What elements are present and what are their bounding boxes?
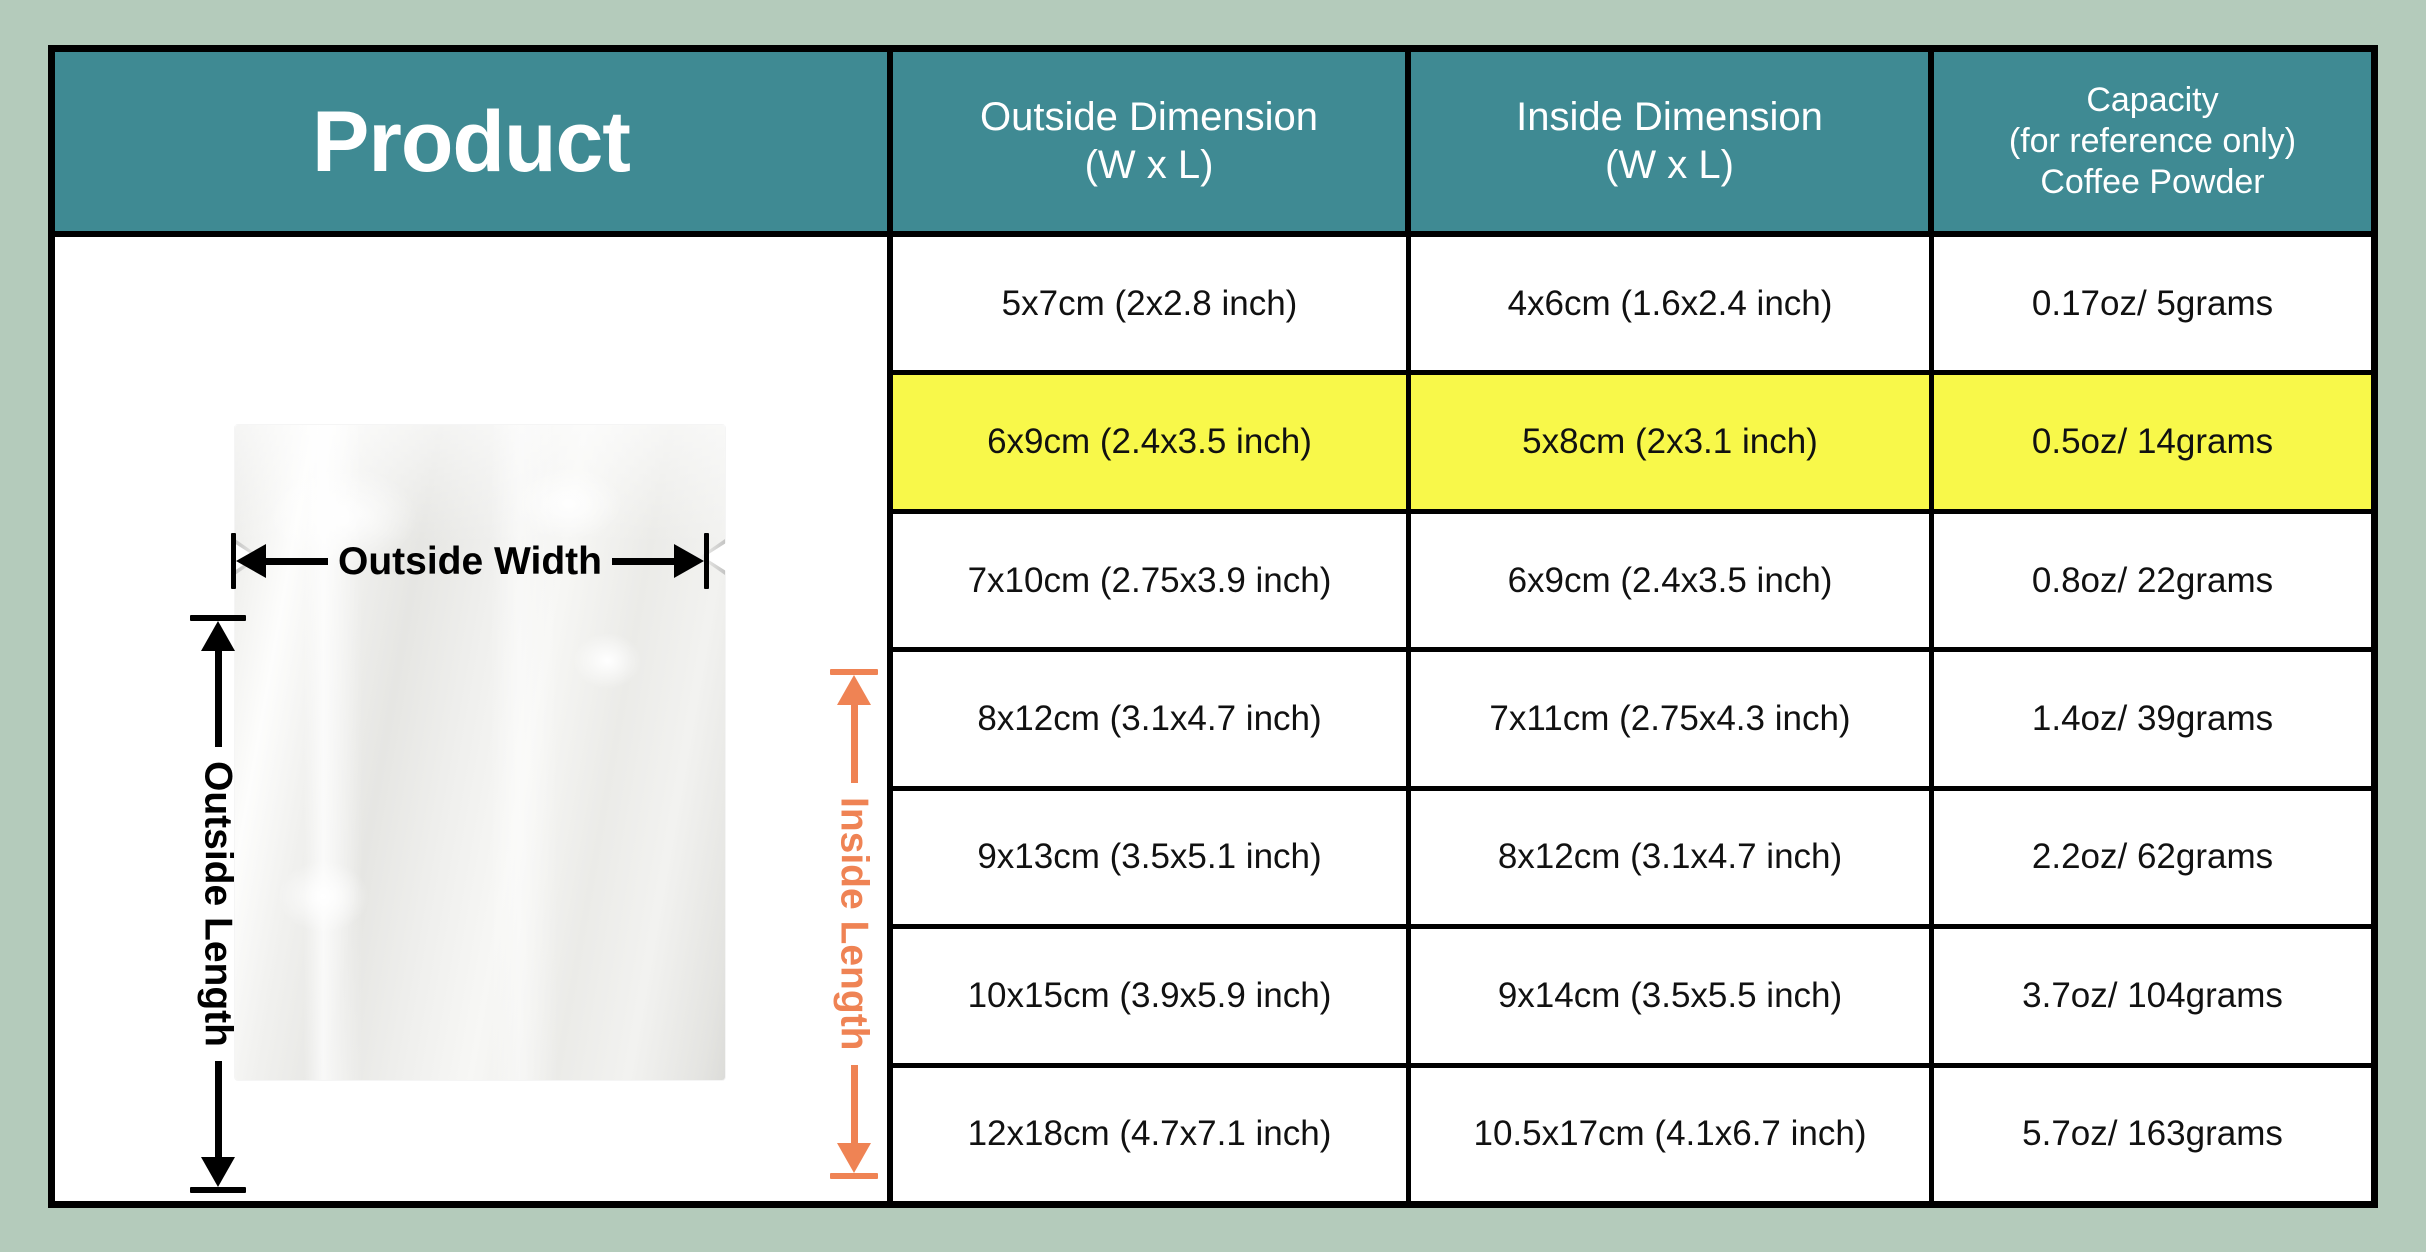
size-rows-container: 5x7cm (2x2.8 inch) 4x6cm (1.6x2.4 inch) … <box>893 237 2371 1201</box>
outside-width-arrowhead-right-icon <box>674 544 704 578</box>
inside-length-shaft-bottom <box>851 1065 858 1143</box>
column-header-capacity-sub: (for reference only) <box>2009 121 2296 162</box>
cell-capacity: 2.2oz/ 62grams <box>1934 791 2371 924</box>
inside-length-arrowhead-up-icon <box>837 675 871 705</box>
table-row: 10x15cm (3.9x5.9 inch) 9x14cm (3.5x5.5 i… <box>893 929 2371 1067</box>
table-row: 5x7cm (2x2.8 inch) 4x6cm (1.6x2.4 inch) … <box>893 237 2371 375</box>
cell-outside-dimension: 12x18cm (4.7x7.1 inch) <box>893 1068 1411 1201</box>
outside-width-label: Outside Width <box>338 542 602 581</box>
table-body: Outside Width Inside Width <box>55 237 2371 1201</box>
table-row: 7x10cm (2.75x3.9 inch) 6x9cm (2.4x3.5 in… <box>893 514 2371 652</box>
column-header-product-label: Product <box>312 99 630 185</box>
outside-length-arrowhead-up-icon <box>201 621 235 651</box>
outside-length-cap-bottom-icon <box>190 1187 246 1193</box>
outside-length-dimension: Outside Length <box>190 615 246 1201</box>
inside-length-cap-bottom-icon <box>830 1173 878 1179</box>
pouch-top-sheen <box>235 425 725 545</box>
outside-width-dimension: Outside Width <box>231 533 731 589</box>
column-header-inside-dimension-sub: (W x L) <box>1516 142 1823 189</box>
table-header-row: Product Outside Dimension (W x L) Inside… <box>55 52 2371 237</box>
outside-width-shaft-right <box>612 558 674 565</box>
cell-inside-dimension: 9x14cm (3.5x5.5 inch) <box>1411 929 1934 1062</box>
table-row-highlighted: 6x9cm (2.4x3.5 inch) 5x8cm (2x3.1 inch) … <box>893 375 2371 513</box>
cell-capacity: 3.7oz/ 104grams <box>1934 929 2371 1062</box>
size-chart-table: Product Outside Dimension (W x L) Inside… <box>48 45 2378 1208</box>
column-header-outside-dimension: Outside Dimension (W x L) <box>893 52 1411 231</box>
column-header-capacity-label: Capacity <box>2009 80 2296 121</box>
pouch-gloss-overlay <box>235 425 725 1080</box>
cell-capacity: 1.4oz/ 39grams <box>1934 652 2371 785</box>
product-illustration-cell: Outside Width Inside Width <box>55 237 893 1201</box>
outside-width-arrowhead-left-icon <box>236 544 266 578</box>
column-header-outside-dimension-sub: (W x L) <box>980 142 1318 189</box>
table-row: 9x13cm (3.5x5.1 inch) 8x12cm (3.1x4.7 in… <box>893 791 2371 929</box>
outside-width-cap-right-icon <box>704 533 709 589</box>
cell-outside-dimension: 10x15cm (3.9x5.9 inch) <box>893 929 1411 1062</box>
column-header-capacity-sub2: Coffee Powder <box>2009 162 2296 203</box>
column-header-product: Product <box>55 52 893 231</box>
inside-length-arrowhead-down-icon <box>837 1143 871 1173</box>
column-header-outside-dimension-label: Outside Dimension <box>980 95 1318 139</box>
column-header-inside-dimension: Inside Dimension (W x L) <box>1411 52 1934 231</box>
cell-capacity: 0.8oz/ 22grams <box>1934 514 2371 647</box>
outside-length-shaft-bottom <box>215 1061 222 1157</box>
cell-capacity: 0.5oz/ 14grams <box>1934 375 2371 508</box>
outside-width-shaft-left <box>266 558 328 565</box>
inside-length-label: Inside Length <box>835 797 874 1051</box>
outside-length-arrowhead-down-icon <box>201 1157 235 1187</box>
outside-length-label: Outside Length <box>199 761 238 1047</box>
inside-length-shaft-top <box>851 705 858 783</box>
cell-capacity: 5.7oz/ 163grams <box>1934 1068 2371 1201</box>
outside-length-shaft-top <box>215 651 222 747</box>
cell-capacity: 0.17oz/ 5grams <box>1934 237 2371 370</box>
column-header-capacity: Capacity (for reference only) Coffee Pow… <box>1934 52 2371 231</box>
cell-outside-dimension: 8x12cm (3.1x4.7 inch) <box>893 652 1411 785</box>
cell-inside-dimension: 8x12cm (3.1x4.7 inch) <box>1411 791 1934 924</box>
cell-inside-dimension: 6x9cm (2.4x3.5 inch) <box>1411 514 1934 647</box>
inside-length-dimension: Inside Length <box>830 669 878 1201</box>
table-row: 12x18cm (4.7x7.1 inch) 10.5x17cm (4.1x6.… <box>893 1068 2371 1201</box>
cell-outside-dimension: 9x13cm (3.5x5.1 inch) <box>893 791 1411 924</box>
column-header-inside-dimension-label: Inside Dimension <box>1516 95 1823 139</box>
cell-inside-dimension: 7x11cm (2.75x4.3 inch) <box>1411 652 1934 785</box>
cell-outside-dimension: 7x10cm (2.75x3.9 inch) <box>893 514 1411 647</box>
mylar-pouch-image <box>235 425 725 1080</box>
product-size-chart: Product Outside Dimension (W x L) Inside… <box>0 0 2426 1252</box>
cell-inside-dimension: 4x6cm (1.6x2.4 inch) <box>1411 237 1934 370</box>
cell-inside-dimension: 10.5x17cm (4.1x6.7 inch) <box>1411 1068 1934 1201</box>
cell-outside-dimension: 6x9cm (2.4x3.5 inch) <box>893 375 1411 508</box>
cell-outside-dimension: 5x7cm (2x2.8 inch) <box>893 237 1411 370</box>
cell-inside-dimension: 5x8cm (2x3.1 inch) <box>1411 375 1934 508</box>
table-row: 8x12cm (3.1x4.7 inch) 7x11cm (2.75x4.3 i… <box>893 652 2371 790</box>
